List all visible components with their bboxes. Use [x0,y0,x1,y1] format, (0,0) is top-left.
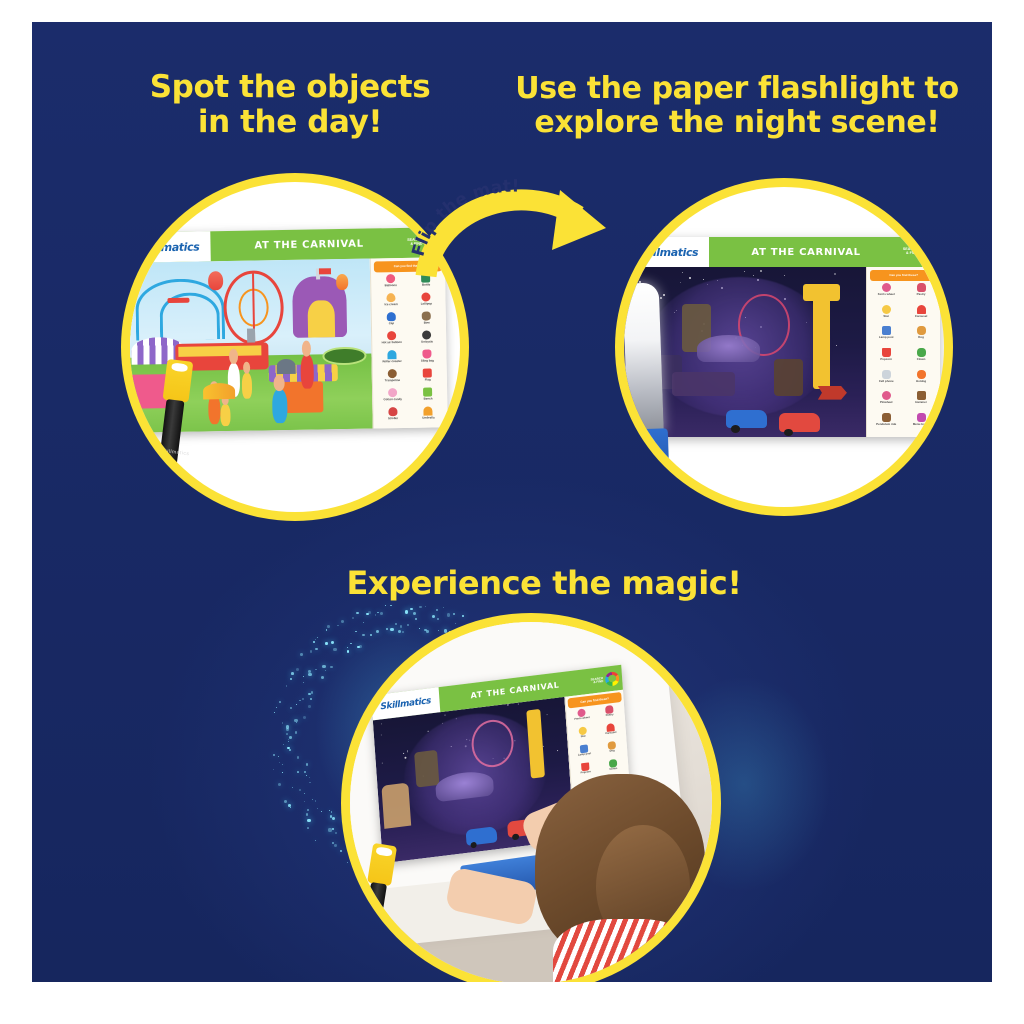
sparkle-particle [291,672,294,675]
sparkle-particle [295,731,298,734]
badge-line2-magic: & FIND [591,680,604,685]
sparkle-particle [307,827,309,829]
list-item-label: Ferris wheel [574,717,589,722]
list-item: Clown [904,348,939,370]
sparkle-particle [315,800,316,801]
sparkle-particle [308,670,311,673]
list-item: Hot air balloon [374,331,410,351]
star-speck [404,757,406,759]
list-item-label: Popcorn [880,358,892,361]
sparkle-particle [405,610,408,613]
pen-cap-character [162,359,193,403]
list-item: Dog [904,326,939,348]
sparkle-particle [289,736,292,739]
sparkle-particle [443,607,444,608]
bow-icon [422,311,431,320]
headline-night-line2: explore the night scene! [502,106,972,140]
mat-title: AT THE CARNIVAL [211,237,408,251]
list-item-label: Sling bag [421,359,434,362]
sparkle-particle [307,819,310,822]
popcorn-icon [882,348,891,357]
sparkle-particle [366,613,369,616]
sparkle-particle [286,728,289,731]
pen-face-icon [171,362,189,372]
star-icon [882,305,891,314]
sparkle-particle [276,707,278,709]
sparkle-particle [325,642,327,644]
list-item-label: Cell phone [879,380,894,383]
cap-icon [387,312,396,321]
sparkle-particle [303,682,304,683]
ferris-wheel-icon [882,283,891,292]
hot-air-balloon-art [208,271,223,290]
hammer-icon [917,391,926,400]
list-item: Ice cream [373,293,409,313]
sparkle-particle [310,650,312,652]
list-item: Pendulum ride [869,413,904,435]
list-item: Umbrella [411,406,447,426]
carousel-icon [917,305,926,314]
sparkle-particle [347,647,348,648]
sparkle-particle [296,704,297,705]
list-item-label: Pastry [917,293,926,296]
list-item: Bench [410,387,446,407]
list-item: Pastry [904,283,939,305]
flip-the-mat-arrow: Flip the mat! [410,172,625,292]
list-item-label: Ice cream [384,303,397,306]
sparkle-particle [447,613,450,616]
cell-phone-icon [882,370,891,379]
hot-air-balloon-art-2 [336,274,349,290]
list-item: Ferris wheel [869,283,904,305]
lollipop-icon [422,293,431,302]
bench-area-art [672,372,735,396]
sparkle-particle [410,608,412,610]
tree-art [774,359,803,396]
badge-line2-night: & FIND [903,252,918,256]
sparkle-particle [282,764,283,765]
list-item: Unicycle [409,330,445,350]
sparkle-particle [313,641,315,643]
mat-body-night: Can you find these? Ferris wheelPastrySt… [624,267,940,437]
list-item-label: Umbrella [422,416,434,419]
list-item: Popcorn [869,348,904,370]
hot-air-balloon-icon [387,331,396,340]
pendulum-top [803,284,839,301]
flashlight-beam-sheet [624,282,664,433]
star-speck [682,272,683,273]
list-item-label: Lollipop [421,302,432,305]
sparkle-particle [290,807,291,808]
sparkle-particle [299,789,301,791]
list-item-label: Balloons [385,284,397,287]
sparkle-particle [306,763,309,766]
mat-header-night: Skillmatics AT THE CARNIVAL SEARCH & FIN… [624,237,940,267]
sparkle-particle [307,809,309,811]
sparkle-particle [326,629,328,631]
sparkle-particle [299,700,301,702]
mat-title-night: AT THE CARNIVAL [709,247,903,258]
pen-face-icon-magic [376,846,392,856]
list-item-label: Cap [389,322,395,325]
headline-night: Use the paper flashlight to explore the … [502,72,972,139]
list-item: Balloons [373,274,409,294]
pendulum-ride-icon [882,413,891,422]
list-item: Cotton candy [375,387,411,407]
list-item-label: Lamp post [578,753,591,757]
pastry-icon [917,283,926,292]
list-item: Carousel [904,305,939,327]
sparkle-particle [289,749,291,751]
sparkle-particle [308,673,311,676]
star-speck [836,345,837,346]
list-item-label: Lamp post [879,336,894,339]
list-item: Menu board [904,413,939,435]
list-item: Bow [409,311,445,331]
sparkle-particle [330,815,332,817]
sparkle-particle [310,698,312,700]
sparkle-particle [317,808,318,809]
coaster-car [167,297,189,302]
sparkle-particle [315,639,316,640]
list-item-label: Trampoline [385,379,400,382]
roller-coaster-icon [387,350,396,359]
umbrella-art [203,383,235,399]
sparkle-particle [300,653,303,656]
list-item-label: Ferris wheel [878,293,895,296]
sparkle-particle [286,733,288,735]
sparkle-particle [462,615,464,617]
sparkle-particle [315,669,317,671]
sparkle-particle [306,813,309,816]
bench-icon [423,387,432,396]
pendulum-ride-art [813,287,830,389]
night-item-grid: Ferris wheelPastryStarCarouselLamp postD… [869,283,939,434]
sparkle-particle [453,613,455,615]
sparkle-particle [321,676,324,679]
child-figure-2 [221,404,231,426]
list-item-label: Pastry [606,714,614,718]
castle-art-magic [381,782,411,828]
sparkle-particle [273,754,275,756]
color-wheel-icon-magic [605,671,620,687]
sparkle-particle [290,678,292,680]
sparkle-particle [425,606,426,607]
pinwheel-icon [882,391,891,400]
list-item-label: Star [883,315,889,318]
sparkle-particle [415,618,417,620]
sparkle-particle [368,611,371,614]
day-item-grid: BalloonsBottleIce creamLollipopCapBowHot… [373,273,446,426]
star-speck [518,703,519,704]
sparkle-particle [274,712,275,713]
list-item-label: Clown [917,358,926,361]
list-item: Hammer [904,391,939,413]
list-banner-night: Can you find these? [870,270,937,281]
navy-panel: Spot the objects in the day! Use the pap… [32,22,992,982]
sparkle-particle [356,612,359,615]
clown-icon [917,348,926,357]
ice-cream-icon [386,293,395,302]
headline-day: Spot the objects in the day! [120,70,460,139]
list-item-label: Pinwheel [880,401,893,404]
hotdog-icon [917,370,926,379]
list-item-label: Star [581,735,586,738]
list-item: Cell phone [869,370,904,392]
star-speck [680,282,681,283]
sparkle-particle [303,676,304,677]
umbrella-icon [424,406,433,415]
list-item: Cap [374,312,410,332]
sparkle-particle [322,665,325,668]
sparkle-particle [304,793,305,794]
sparkle-particle [279,762,280,763]
lifestyle-photo: Skillmatics AT THE CARNIVAL SEARCH & FIN… [350,622,712,982]
list-item: Roller coaster [374,350,410,370]
star-speck [834,273,836,275]
headline-day-line1: Spot the objects [120,70,460,105]
list-item-label: Bench [424,397,433,400]
direction-sign-art [818,386,847,400]
sparkle-particle [377,612,379,614]
sparkle-particle [304,801,305,802]
sparkle-particle [335,832,337,834]
sparkle-particle [304,771,306,773]
list-item-label: Carousel [915,315,927,318]
lamp-post-icon [882,326,891,335]
sparkle-particle [308,693,310,695]
list-item-label: Bow [424,321,430,324]
sparkle-particle [315,840,316,841]
sparkle-particle [436,609,438,611]
list-item-label: Clown [610,768,618,772]
sparkle-particle [312,799,313,800]
sparkle-particle [332,828,334,830]
list-item: Pinwheel [869,391,904,413]
stroller-art [276,358,296,374]
sparkle-particle [303,716,306,719]
sparkle-particle [385,605,386,606]
skillmatics-logo-night: Skillmatics [624,237,709,267]
stroller-icon [388,407,397,416]
sparkle-particle [296,668,299,671]
sparkle-particle [302,698,304,700]
sparkle-particle [297,756,300,759]
list-item: Flag [410,368,446,388]
sparkle-particle [294,719,297,722]
sparkle-particle [330,666,332,668]
sling-bag-icon [423,349,432,358]
sparkle-particle [282,722,284,724]
dog-icon [917,326,926,335]
mat-night: Skillmatics AT THE CARNIVAL SEARCH & FIN… [624,237,940,437]
list-item: Lollipop [409,292,445,312]
list-item: Trampoline [375,369,411,389]
sparkle-particle [380,612,383,615]
sparkle-particle [342,819,344,821]
pen-brand-text-magic: Skillmatics [363,929,380,937]
list-item-label: Carousel [605,732,616,736]
list-item-label: Cotton candy [383,398,402,401]
sparkle-particle [315,648,317,650]
castle-slide [307,300,335,338]
sparkle-particle [286,685,287,686]
sparkle-particle [332,842,334,844]
infographic-stage: Spot the objects in the day! Use the pap… [0,0,1024,1024]
list-item-label: Pendulum ride [876,423,896,426]
sparkle-particle [296,722,297,723]
sparkle-particle [321,811,322,812]
trampoline-icon [388,369,397,378]
skillmatics-logo: Skillmatics [130,231,211,263]
paper-flashlight[interactable] [624,282,669,478]
vendor-figure [272,389,287,423]
balloons-icon [386,274,395,283]
sparkle-particle [317,637,318,638]
tower-ride-art-magic [414,750,439,787]
sparkle-particle [282,772,283,773]
sparkle-particle [337,625,339,627]
list-item: Sling bag [410,349,446,369]
sparkle-particle [419,606,421,608]
headline-day-line2: in the day! [120,105,460,140]
sparkle-particle [333,648,336,651]
sparkle-particle [437,618,439,620]
sparkle-particle [352,617,354,619]
sparkle-particle [290,707,292,709]
sparkle-particle [329,810,330,811]
train-window-strip [178,345,262,357]
sparkle-particle [347,862,349,864]
sparkle-particle [283,744,284,745]
child-figure [242,373,252,399]
pen-body: Skillmatics [157,399,185,482]
sparkle-particle [288,741,289,742]
sparkle-particle [273,769,274,770]
search-and-find-badge-night: SEARCH & FIND [903,244,940,261]
list-item: Stroller [375,406,411,426]
sparkle-particle [347,650,350,653]
sparkle-particle [332,817,335,820]
star-speck [760,270,762,272]
sparkle-particle [331,811,333,813]
toy-car-red [779,413,820,432]
list-item-label: Flag [425,378,431,381]
sparkle-particle [288,739,289,740]
flashlight-handle [624,428,669,476]
list-item: Lamp post [869,326,904,348]
sparkle-particle [347,828,349,830]
sparkle-particle [287,747,290,750]
sparkle-particle [297,771,299,773]
sparkle-particle [390,605,391,606]
sparkle-particle [413,612,416,615]
sparkle-particle [334,844,337,847]
sparkle-particle [284,800,287,803]
sparkle-particle [286,725,289,728]
list-item-label: Hammer [915,401,927,404]
child-shirt [553,919,698,982]
sparkle-particle [278,783,281,786]
list-item-label: Roller coaster [382,360,401,363]
list-item: Hotdog [904,370,939,392]
list-item-label: Dog [918,336,924,339]
color-wheel-icon-night [920,244,937,261]
star-speck [381,723,382,724]
sparkle-particle [306,775,307,776]
sparkle-particle [331,641,334,644]
sparkle-particle [432,615,435,618]
list-item-label: Menu board [913,423,929,426]
list-item-label: Popcorn [581,771,592,775]
sparkle-particle [309,777,310,778]
star-speck [703,279,704,280]
list-item-label: Hot air balloon [382,341,402,344]
list-item-label: Stroller [388,417,398,420]
sparkle-particle [278,756,279,757]
night-item-list: Can you find these? Ferris wheelPastrySt… [866,267,940,437]
sparkle-particle [308,705,311,708]
sparkle-particle [325,670,326,671]
menu-board-icon [917,413,926,422]
sparkle-particle [292,787,294,789]
list-item: Star [869,305,904,327]
sparkle-particle [341,620,344,623]
unicycle-icon [422,330,431,339]
toy-car-blue [726,410,767,429]
flag-icon [423,368,432,377]
headline-magic: Experience the magic! [264,566,824,602]
pen-brand-text: Skillmatics [160,448,178,456]
list-item-label: Unicycle [421,340,433,343]
sparkle-particle [309,782,311,784]
cotton-candy-icon [388,388,397,397]
visitor-figure-2 [301,355,314,389]
list-item-label: Hotdog [916,380,926,383]
sparkle-particle [311,691,314,694]
sparkle-particle [340,850,343,853]
carousel-art [697,335,760,362]
castle-flag-icon [319,268,331,275]
circle-photo-magic: Skillmatics AT THE CARNIVAL SEARCH & FIN… [350,622,712,982]
list-item-label: Dog [610,750,615,753]
sparkle-particle [328,828,331,831]
sparkle-particle [279,701,281,703]
sparkle-particle [375,614,376,615]
search-and-find-badge-magic: SEARCH & FIND [590,670,622,688]
headline-night-line1: Use the paper flashlight to [502,72,972,106]
sparkle-particle [288,804,291,807]
sparkle-particle [327,625,330,628]
circle-photo-night: Skillmatics AT THE CARNIVAL SEARCH & FIN… [624,187,944,507]
